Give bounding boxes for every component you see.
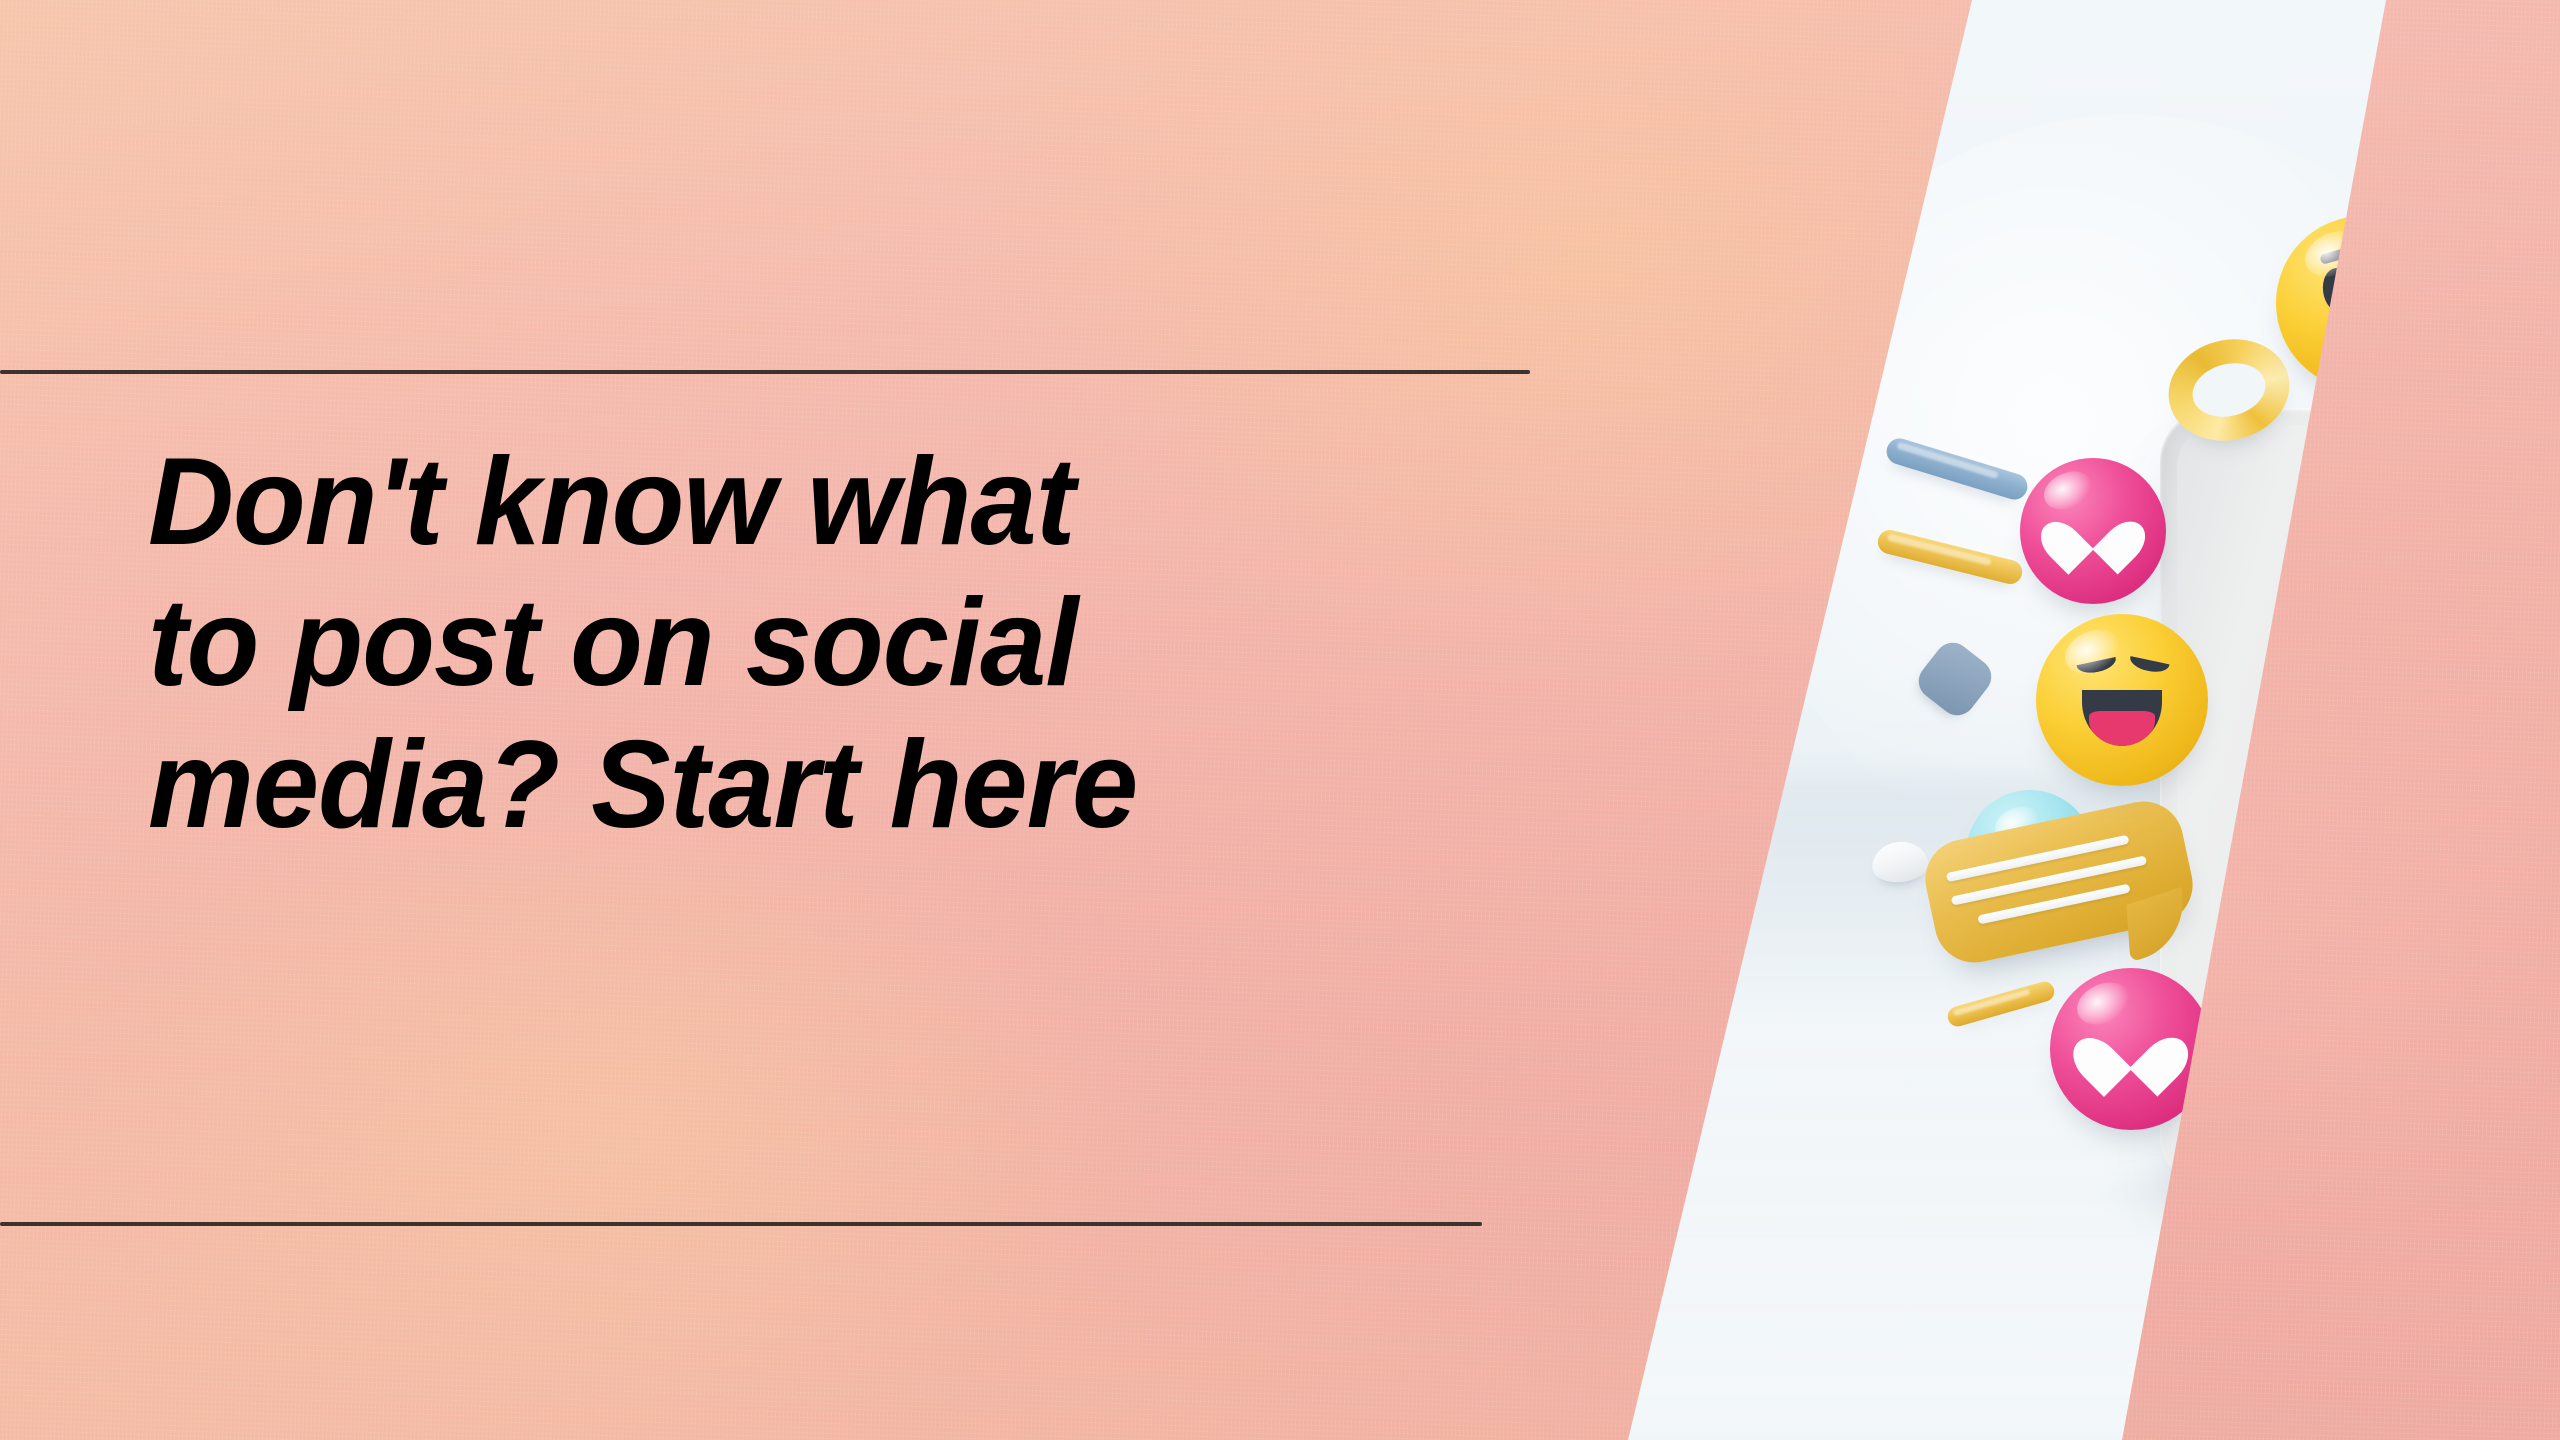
page-title: Don't know what to post on social media?… (148, 432, 1454, 856)
haha-face-emoji-icon (2036, 614, 2208, 786)
top-divider-rule (0, 370, 1530, 374)
eyebrow-right (2128, 655, 2169, 675)
social-media-banner: Don't know what to post on social media?… (0, 0, 2560, 1440)
bottom-divider-rule (0, 1222, 1482, 1226)
heart-reaction-icon (2020, 458, 2166, 604)
eyebrow-left (2076, 656, 2117, 676)
tongue (2089, 711, 2155, 746)
heart-icon (2092, 1012, 2170, 1083)
speech-bubble-line (1946, 835, 2130, 882)
open-mouth (2082, 690, 2161, 747)
heart-icon (2058, 497, 2128, 561)
speech-bubble-line (1951, 856, 2147, 906)
